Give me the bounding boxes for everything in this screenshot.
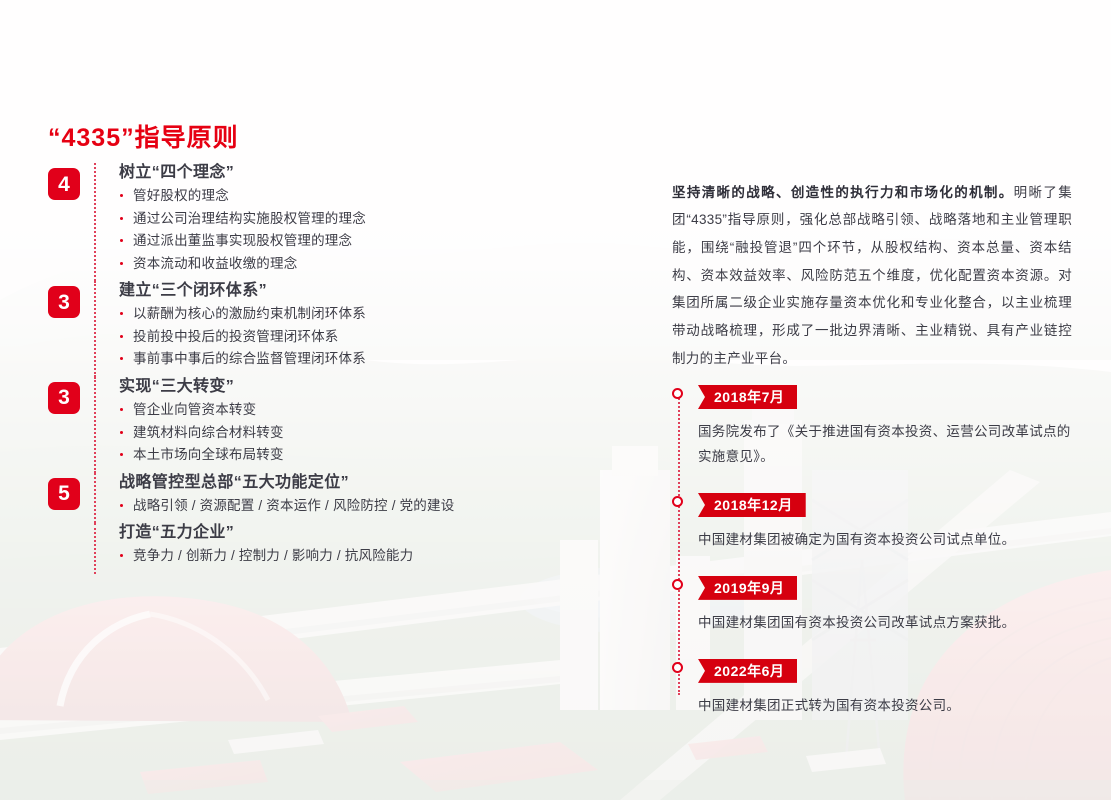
principle-count-badge: [48, 528, 80, 560]
principle-body: 打造“五力企业” 竞争力 / 创新力 / 控制力 / 影响力 / 抗风险能力: [119, 523, 648, 574]
timeline-description: 中国建材集团国有资本投资公司改革试点方案获批。: [698, 611, 1072, 636]
principle-heading: 打造“五力企业”: [119, 523, 648, 542]
badge-wrap: [48, 523, 94, 560]
principle-item: 战略引领 / 资源配置 / 资本运作 / 风险防控 / 党的建设: [119, 499, 648, 513]
badge-wrap: 5: [48, 473, 94, 510]
principle-item-label: 资本流动和收益收缴的理念: [133, 256, 297, 271]
principle-item-label: 管企业向管资本转变: [133, 402, 256, 417]
timeline-date-banner: 2022年6月: [698, 659, 797, 683]
bullet-dot-icon: [120, 194, 123, 197]
principle-block: 5 战略管控型总部“五大功能定位” 战略引领 / 资源配置 / 资本运作 / 风…: [48, 473, 648, 524]
principle-item: 以薪酬为核心的激励约束机制闭环体系: [119, 307, 648, 321]
principle-item-label: 以薪酬为核心的激励约束机制闭环体系: [133, 306, 366, 321]
vertical-dotted-divider: [94, 523, 97, 574]
principle-body: 树立“四个理念” 管好股权的理念 通过公司治理结构实施股权管理的理念 通过派出董…: [119, 163, 648, 281]
page-title: “4335”指导原则: [48, 118, 239, 154]
timeline-description: 中国建材集团被确定为国有资本投资公司试点单位。: [698, 528, 1072, 553]
principle-item-label: 本土市场向全球布局转变: [133, 447, 284, 462]
principle-block: 3 实现“三大转变” 管企业向管资本转变 建筑材料向综合材料转变 本土市场向全球…: [48, 377, 648, 473]
principle-count-badge: 3: [48, 382, 80, 414]
principle-count-badge: 4: [48, 168, 80, 200]
principle-item: 通过公司治理结构实施股权管理的理念: [119, 212, 648, 226]
principle-body: 建立“三个闭环体系” 以薪酬为核心的激励约束机制闭环体系 投前投中投后的投资管理…: [119, 281, 648, 377]
principle-block: 3 建立“三个闭环体系” 以薪酬为核心的激励约束机制闭环体系 投前投中投后的投资…: [48, 281, 648, 377]
principle-item-label: 通过派出董监事实现股权管理的理念: [133, 233, 352, 248]
principle-heading: 战略管控型总部“五大功能定位”: [119, 473, 648, 492]
bullet-dot-icon: [120, 554, 123, 557]
principle-heading: 树立“四个理念”: [119, 163, 648, 182]
timeline-date-banner: 2018年12月: [698, 493, 806, 517]
principle-block: 4 树立“四个理念” 管好股权的理念 通过公司治理结构实施股权管理的理念 通过派…: [48, 163, 648, 281]
vertical-dotted-divider: [94, 281, 97, 377]
bullet-dot-icon: [120, 262, 123, 265]
principle-item-label: 事前事中事后的综合监督管理闭环体系: [133, 351, 366, 366]
bullet-dot-icon: [120, 408, 123, 411]
timeline-date-banner: 2019年9月: [698, 576, 797, 600]
principle-heading: 建立“三个闭环体系”: [119, 281, 648, 300]
principle-item-label: 建筑材料向综合材料转变: [133, 425, 284, 440]
badge-wrap: 4: [48, 163, 94, 200]
principle-count-badge: 3: [48, 286, 80, 318]
principle-item-label: 战略引领 / 资源配置 / 资本运作 / 风险防控 / 党的建设: [133, 498, 454, 513]
bullet-dot-icon: [120, 357, 123, 360]
principle-item-label: 投前投中投后的投资管理闭环体系: [133, 329, 339, 344]
bullet-dot-icon: [120, 239, 123, 242]
principle-body: 实现“三大转变” 管企业向管资本转变 建筑材料向综合材料转变 本土市场向全球布局…: [119, 377, 648, 473]
timeline-circle-marker-icon: [672, 579, 683, 590]
summary-paragraph: 坚持清晰的战略、创造性的执行力和市场化的机制。明晰了集团“4335”指导原则，强…: [672, 179, 1072, 373]
principle-item: 资本流动和收益收缴的理念: [119, 257, 648, 271]
timeline-item: 2022年6月 中国建材集团正式转为国有资本投资公司。: [672, 659, 1072, 719]
vertical-dotted-divider: [94, 377, 97, 473]
content-layer: “4335”指导原则 4 树立“四个理念” 管好股权的理念 通过公司治理结构实施…: [0, 0, 1111, 800]
principle-body: 战略管控型总部“五大功能定位” 战略引领 / 资源配置 / 资本运作 / 风险防…: [119, 473, 648, 524]
principle-block: 打造“五力企业” 竞争力 / 创新力 / 控制力 / 影响力 / 抗风险能力: [48, 523, 648, 574]
summary-rest: 明晰了集团“4335”指导原则，强化总部战略引领、战略落地和主业管理职能，围绕“…: [672, 185, 1072, 366]
principle-item: 建筑材料向综合材料转变: [119, 426, 648, 440]
principle-item: 管好股权的理念: [119, 189, 648, 203]
timeline-circle-marker-icon: [672, 496, 683, 507]
summary-lead-sentence: 坚持清晰的战略、创造性的执行力和市场化的机制。: [672, 185, 1014, 200]
principle-item: 通过派出董监事实现股权管理的理念: [119, 234, 648, 248]
principle-item: 本土市场向全球布局转变: [119, 448, 648, 462]
timeline-item: 2019年9月 中国建材集团国有资本投资公司改革试点方案获批。: [672, 576, 1072, 636]
vertical-dotted-divider: [94, 473, 97, 524]
principle-item: 事前事中事后的综合监督管理闭环体系: [119, 352, 648, 366]
timeline-circle-marker-icon: [672, 388, 683, 399]
badge-wrap: 3: [48, 377, 94, 414]
timeline-circle-marker-icon: [672, 662, 683, 673]
bullet-dot-icon: [120, 453, 123, 456]
principle-item-label: 通过公司治理结构实施股权管理的理念: [133, 211, 366, 226]
principle-item: 竞争力 / 创新力 / 控制力 / 影响力 / 抗风险能力: [119, 549, 648, 563]
timeline-item: 2018年12月 中国建材集团被确定为国有资本投资公司试点单位。: [672, 493, 1072, 553]
vertical-dotted-divider: [94, 163, 97, 281]
summary-paragraph-block: 坚持清晰的战略、创造性的执行力和市场化的机制。明晰了集团“4335”指导原则，强…: [672, 165, 1072, 386]
timeline-description: 国务院发布了《关于推进国有资本投资、运营公司改革试点的实施意见》。: [698, 420, 1072, 470]
principle-count-badge: 5: [48, 478, 80, 510]
bullet-dot-icon: [120, 217, 123, 220]
milestone-timeline: 2018年7月 国务院发布了《关于推进国有资本投资、运营公司改革试点的实施意见》…: [672, 385, 1072, 719]
badge-wrap: 3: [48, 281, 94, 318]
principles-list: 4 树立“四个理念” 管好股权的理念 通过公司治理结构实施股权管理的理念 通过派…: [48, 163, 648, 574]
principle-heading: 实现“三大转变”: [119, 377, 648, 396]
bullet-dot-icon: [120, 431, 123, 434]
timeline-date-banner: 2018年7月: [698, 385, 797, 409]
principle-item: 管企业向管资本转变: [119, 403, 648, 417]
timeline-description: 中国建材集团正式转为国有资本投资公司。: [698, 694, 1072, 719]
bullet-dot-icon: [120, 504, 123, 507]
bullet-dot-icon: [120, 312, 123, 315]
bullet-dot-icon: [120, 335, 123, 338]
principle-item: 投前投中投后的投资管理闭环体系: [119, 330, 648, 344]
principle-item-label: 管好股权的理念: [133, 188, 229, 203]
page-root: “4335”指导原则 4 树立“四个理念” 管好股权的理念 通过公司治理结构实施…: [0, 0, 1111, 800]
timeline-item: 2018年7月 国务院发布了《关于推进国有资本投资、运营公司改革试点的实施意见》…: [672, 385, 1072, 470]
principle-item-label: 竞争力 / 创新力 / 控制力 / 影响力 / 抗风险能力: [133, 548, 413, 563]
